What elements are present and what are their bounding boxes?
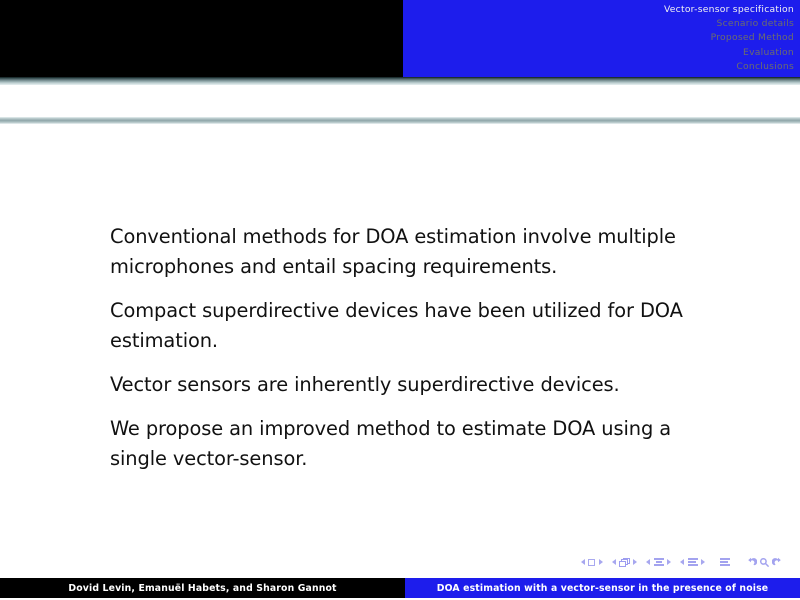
- bullet-item: Vector sensors are inherently superdirec…: [110, 370, 710, 400]
- back-icon[interactable]: [746, 557, 757, 568]
- beamer-navigation-symbols[interactable]: [581, 552, 792, 572]
- slide-footer-bar: Dovid Levin, Emanuël Habets, and Sharon …: [0, 578, 800, 598]
- sidebar-item-scenario-details[interactable]: Scenario details: [404, 17, 794, 31]
- frame-navigation-group[interactable]: [612, 558, 638, 567]
- next-slide-icon[interactable]: [599, 559, 603, 565]
- previous-section-icon[interactable]: [680, 559, 684, 565]
- header-separator-lower: [0, 117, 800, 124]
- section-navigation[interactable]: Vector-sensor specification Scenario det…: [404, 3, 794, 74]
- previous-slide-icon[interactable]: [581, 559, 585, 565]
- slide-content: Conventional methods for DOA estimation …: [110, 222, 710, 474]
- footer-authors: Dovid Levin, Emanuël Habets, and Sharon …: [68, 583, 336, 594]
- sidebar-item-conclusions[interactable]: Conclusions: [404, 60, 794, 74]
- history-navigation-group[interactable]: [746, 557, 783, 568]
- footer-authors-block: Dovid Levin, Emanuël Habets, and Sharon …: [0, 578, 405, 598]
- footer-title-block: DOA estimation with a vector-sensor in t…: [405, 578, 800, 598]
- slide-header-black-block: [0, 0, 403, 77]
- document-navigation-group[interactable]: [720, 557, 730, 567]
- forward-icon[interactable]: [772, 557, 783, 568]
- subsection-navigation-group[interactable]: [646, 558, 671, 567]
- bullet-item: Conventional methods for DOA estimation …: [110, 222, 710, 282]
- next-section-icon[interactable]: [701, 559, 705, 565]
- section-navigation-group[interactable]: [680, 558, 705, 567]
- sidebar-item-evaluation[interactable]: Evaluation: [404, 46, 794, 60]
- next-subsection-icon[interactable]: [667, 559, 671, 565]
- frame-title-area: [0, 85, 800, 117]
- previous-subsection-icon[interactable]: [646, 559, 650, 565]
- slide-header-bar: Vector-sensor specification Scenario det…: [0, 0, 800, 77]
- subsection-icon[interactable]: [654, 558, 664, 567]
- slide-icon[interactable]: [588, 559, 595, 566]
- sidebar-item-proposed-method[interactable]: Proposed Method: [404, 31, 794, 45]
- next-frame-icon[interactable]: [633, 559, 637, 565]
- bullet-item: We propose an improved method to estimat…: [110, 414, 710, 474]
- section-icon[interactable]: [688, 558, 698, 567]
- document-icon[interactable]: [720, 557, 730, 567]
- previous-frame-icon[interactable]: [612, 559, 616, 565]
- search-icon[interactable]: [759, 557, 770, 568]
- header-separator-upper: [0, 77, 800, 85]
- slide-navigation-group[interactable]: [581, 559, 603, 566]
- footer-title: DOA estimation with a vector-sensor in t…: [437, 583, 768, 594]
- bullet-item: Compact superdirective devices have been…: [110, 296, 710, 356]
- sidebar-item-vector-sensor-specification[interactable]: Vector-sensor specification: [404, 3, 794, 17]
- frame-icon[interactable]: [619, 558, 630, 567]
